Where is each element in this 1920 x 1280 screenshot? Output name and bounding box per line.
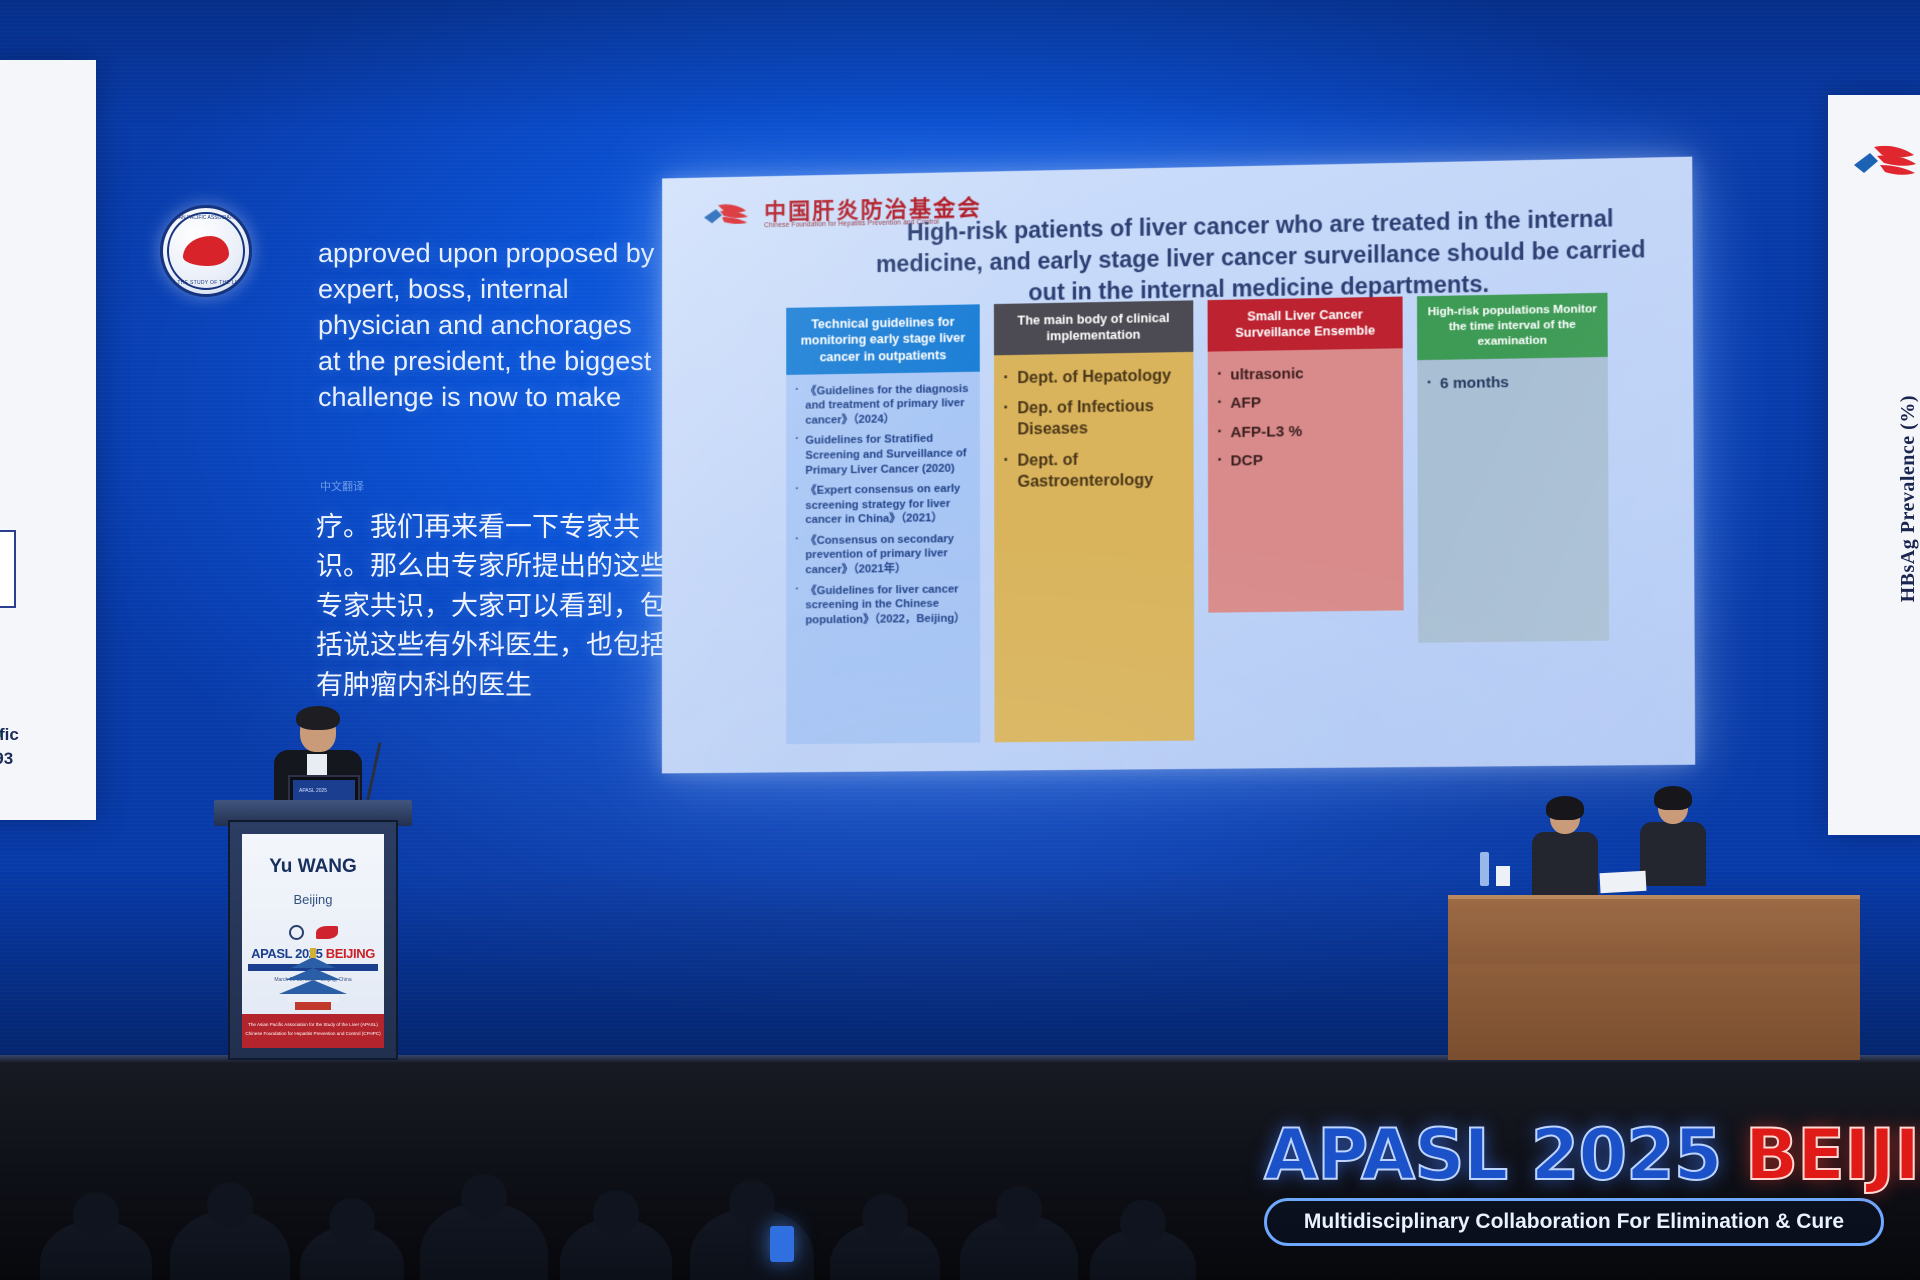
water-bottle — [1480, 852, 1489, 886]
panelist-hair — [1546, 796, 1584, 820]
caption-tiny-label: 中文翻译 — [320, 478, 364, 494]
emblem-bottom-text: FOR THE STUDY OF THE LIVER — [164, 280, 247, 286]
live-caption-english: approved upon proposed by expert, boss, … — [318, 236, 658, 416]
list-item: Dept. of Gastroenterology — [1002, 449, 1185, 494]
speaker-hair — [296, 706, 340, 730]
list-item: Dep. of Infectious Diseases — [1002, 397, 1185, 442]
list-item: AFP — [1216, 391, 1395, 414]
table-skirt — [1448, 964, 1860, 1060]
column-technical-guidelines: Technical guidelines for monitoring earl… — [786, 304, 980, 744]
column-clinical-implementation: The main body of clinical implementation… — [994, 300, 1194, 742]
list-item: DCP — [1216, 449, 1395, 471]
left-panel-footer-text: Pacific D1193 — [0, 723, 19, 772]
column-header: The main body of clinical implementation — [994, 300, 1193, 354]
list-item: Guidelines for Stratified Screening and … — [794, 432, 972, 479]
podium-footer-line1: The Asian Pacific Association for the St… — [242, 1021, 384, 1030]
panelist-torso — [1532, 832, 1598, 896]
presentation-slide: 中国肝炎防治基金会 Chinese Foundation for Hepatit… — [662, 157, 1695, 774]
podium-logo-row — [242, 922, 384, 942]
apasl-emblem-logo: ASIAN PACIFIC ASSOCIATION FOR THE STUDY … — [160, 205, 252, 297]
panelist-hair — [1654, 786, 1692, 810]
temple-of-heaven-icon — [265, 944, 361, 1010]
podium-nameplate-sign: Yu WANG Beijing APASL 2025 BEIJING March… — [242, 834, 384, 1048]
left-panel-footer-line1: Pacific — [0, 723, 19, 748]
apasl-circle-logo-icon — [289, 925, 304, 940]
column-header: Small Liver Cancer Surveillance Ensemble — [1208, 297, 1403, 352]
red-hand-logo-icon — [702, 200, 758, 231]
column-body: 《Guidelines for the diagnosis and treatm… — [786, 371, 980, 744]
panelist-torso — [1640, 822, 1706, 886]
left-panel-box: 图 — [0, 530, 16, 608]
column-surveillance-ensemble: Small Liver Cancer Surveillance Ensemble… — [1208, 297, 1405, 741]
column-monitor-interval: High-risk populations Monitor the time i… — [1417, 293, 1610, 739]
podium-speaker-name: Yu WANG — [242, 856, 384, 878]
podium-footer-text: The Asian Pacific Association for the St… — [242, 1014, 384, 1048]
list-item: ultrasonic — [1216, 362, 1395, 385]
banner-title-red: BEIJING — [1745, 1114, 1920, 1196]
apasl-event-banner: APASL 2025 BEIJING Multidisciplinary Col… — [1264, 1122, 1884, 1247]
list-item: 《Consensus on secondary prevention of pr… — [794, 532, 972, 578]
panel-discussion-table — [1448, 895, 1860, 1060]
slide-columns: Technical guidelines for monitoring earl… — [786, 292, 1668, 745]
caption-chinese-text: 疗。我们再来看一下专家共识。那么由专家所提出的这些专家共识，大家可以看到，包括说… — [316, 508, 676, 705]
lectern-podium: Yu WANG Beijing APASL 2025 BEIJING March… — [228, 820, 398, 1060]
paper-cup — [1496, 866, 1510, 886]
list-item: 《Guidelines for the diagnosis and treatm… — [794, 382, 972, 429]
list-item: Dept. of Hepatology — [1002, 366, 1185, 390]
banner-subtitle: Multidisciplinary Collaboration For Elim… — [1264, 1198, 1884, 1246]
column-header: Technical guidelines for monitoring earl… — [786, 304, 980, 374]
podium-speaker-city: Beijing — [242, 892, 384, 907]
red-hand-logo-icon — [1852, 141, 1920, 185]
right-side-display-panel: HBsAg Prevalence (%) — [1828, 95, 1920, 835]
panelist-right — [1636, 790, 1710, 886]
list-item: 《Guidelines for liver cancer screening i… — [794, 582, 972, 628]
panelist-left — [1528, 800, 1602, 896]
list-item: 6 months — [1426, 371, 1600, 394]
laptop-screen-label: APASL 2025 — [299, 788, 327, 794]
column-header: High-risk populations Monitor the time i… — [1417, 293, 1608, 360]
podium-footer-line2: Chinese Foundation for Hepatitis Prevent… — [242, 1030, 384, 1039]
list-item: AFP-L3 % — [1216, 420, 1395, 443]
list-item: 《Expert consensus on early screening str… — [794, 482, 972, 528]
banner-title-blue: APASL 2025 — [1264, 1114, 1721, 1196]
paper-document — [1600, 871, 1647, 893]
emblem-top-text: ASIAN PACIFIC ASSOCIATION — [171, 215, 242, 221]
conference-stage-scene: ASIAN PACIFIC ASSOCIATION FOR THE STUDY … — [0, 0, 1920, 1280]
right-panel-y-axis-label: HBsAg Prevalence (%) — [1897, 395, 1920, 602]
banner-title: APASL 2025 BEIJING — [1264, 1122, 1884, 1189]
red-hand-logo-icon — [316, 926, 338, 939]
left-panel-footer-line2: D1193 — [0, 747, 19, 772]
laptop-screen: APASL 2025 — [293, 780, 355, 800]
column-body: 6 months — [1417, 357, 1609, 643]
caption-english-text: approved upon proposed by expert, boss, … — [318, 236, 658, 416]
left-side-display-panel: 图 Pacific D1193 — [0, 60, 96, 820]
column-body: ultrasonic AFP AFP-L3 % DCP — [1208, 348, 1404, 612]
column-body: Dept. of Hepatology Dep. of Infectious D… — [994, 351, 1194, 742]
